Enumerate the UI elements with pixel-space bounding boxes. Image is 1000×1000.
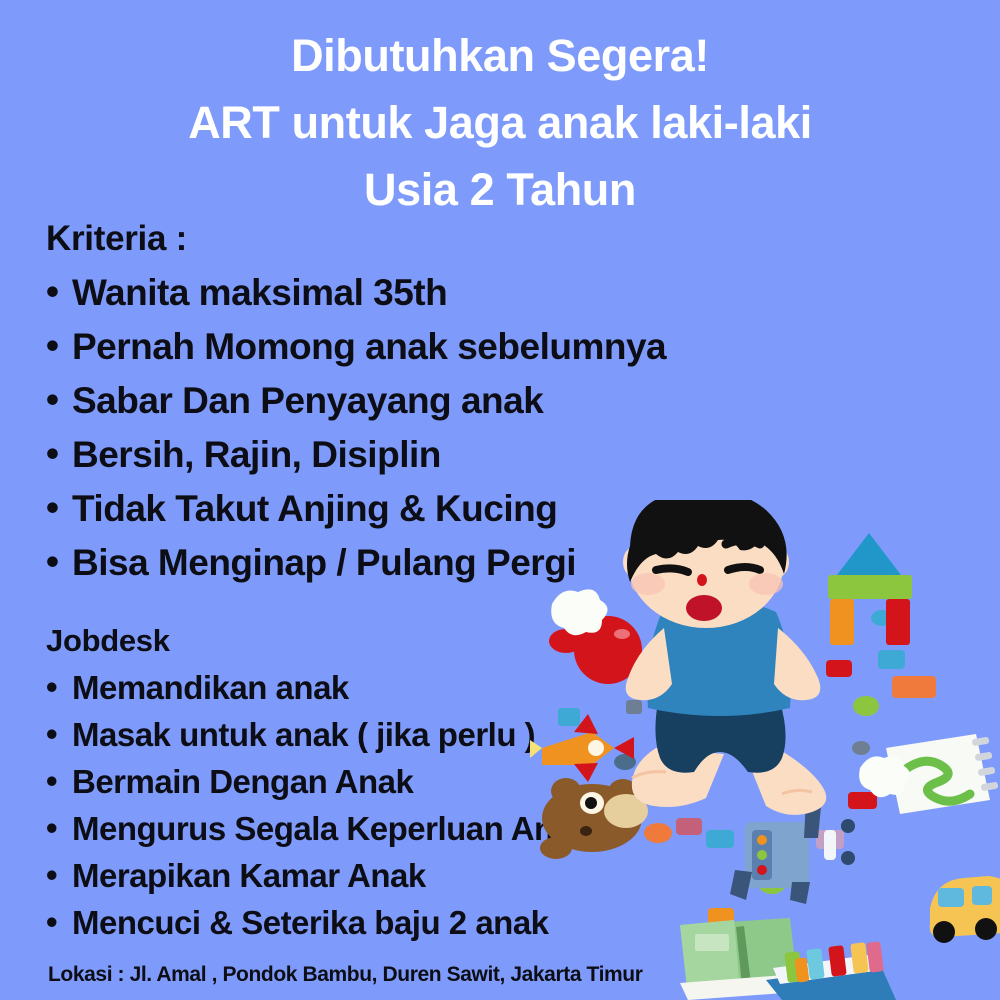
bullet-icon: • [46, 481, 58, 535]
list-item-label: Masak untuk anak ( jika perlu ) [72, 716, 535, 753]
list-item: •Mencuci & Seterika baju 2 anak [46, 899, 786, 946]
list-item: •Tidak Takut Anjing & Kucing [46, 482, 786, 536]
jobdesk-heading: Jobdesk [46, 618, 786, 664]
kriteria-list: •Wanita maksimal 35th •Pernah Momong ana… [46, 266, 786, 590]
list-item: •Masak untuk anak ( jika perlu ) [46, 711, 786, 758]
bullet-icon: • [46, 898, 57, 945]
notebook-with-scribble-icon [886, 734, 999, 814]
bullet-icon: • [46, 319, 58, 373]
bullet-icon: • [46, 757, 57, 804]
list-item: •Bersih, Rajin, Disiplin [46, 428, 786, 482]
list-item: •Pernah Momong anak sebelumnya [46, 320, 786, 374]
list-item-label: Memandikan anak [72, 669, 349, 706]
list-item: •Bermain Dengan Anak [46, 758, 786, 805]
jobdesk-section: Jobdesk •Memandikan anak •Masak untuk an… [46, 618, 786, 946]
kriteria-section: Kriteria : •Wanita maksimal 35th •Pernah… [46, 212, 786, 590]
headline-line-2: ART untuk Jaga anak laki-laki [0, 89, 1000, 156]
list-item: •Wanita maksimal 35th [46, 266, 786, 320]
list-item-label: Merapikan Kamar Anak [72, 857, 426, 894]
bullet-icon: • [46, 373, 58, 427]
bullet-icon: • [46, 710, 57, 757]
kriteria-heading: Kriteria : [46, 212, 786, 266]
jobdesk-list: •Memandikan anak •Masak untuk anak ( jik… [46, 664, 786, 946]
list-item: •Merapikan Kamar Anak [46, 852, 786, 899]
list-item-label: Tidak Takut Anjing & Kucing [72, 488, 557, 529]
list-item: •Memandikan anak [46, 664, 786, 711]
list-item: •Mengurus Segala Keperluan Anak [46, 805, 786, 852]
lokasi-text: Lokasi : Jl. Amal , Pondok Bambu, Duren … [48, 963, 643, 987]
list-item-label: Pernah Momong anak sebelumnya [72, 326, 666, 367]
list-item-label: Bisa Menginap / Pulang Pergi [72, 542, 576, 583]
bullet-icon: • [46, 804, 57, 851]
bullet-icon: • [46, 427, 58, 481]
bullet-icon: • [46, 535, 58, 589]
bullet-icon: • [46, 663, 57, 710]
list-item-label: Wanita maksimal 35th [72, 272, 447, 313]
bullet-icon: • [46, 265, 58, 319]
poster-body: Kriteria : •Wanita maksimal 35th •Pernah… [46, 212, 786, 946]
yellow-car-icon [930, 876, 1000, 943]
list-item: •Sabar Dan Penyayang anak [46, 374, 786, 428]
headline-line-1: Dibutuhkan Segera! [0, 22, 1000, 89]
poster-canvas: Dibutuhkan Segera! ART untuk Jaga anak l… [0, 0, 1000, 1000]
list-item-label: Bersih, Rajin, Disiplin [72, 434, 441, 475]
bullet-icon: • [46, 851, 57, 898]
page-title: Dibutuhkan Segera! ART untuk Jaga anak l… [0, 22, 1000, 223]
list-item-label: Sabar Dan Penyayang anak [72, 380, 543, 421]
list-item-label: Mengurus Segala Keperluan Anak [72, 810, 589, 847]
building-blocks-icon [828, 533, 912, 645]
list-item: •Bisa Menginap / Pulang Pergi [46, 536, 786, 590]
crayon-box-icon [766, 941, 896, 1000]
list-item-label: Bermain Dengan Anak [72, 763, 413, 800]
list-item-label: Mencuci & Seterika baju 2 anak [72, 904, 549, 941]
